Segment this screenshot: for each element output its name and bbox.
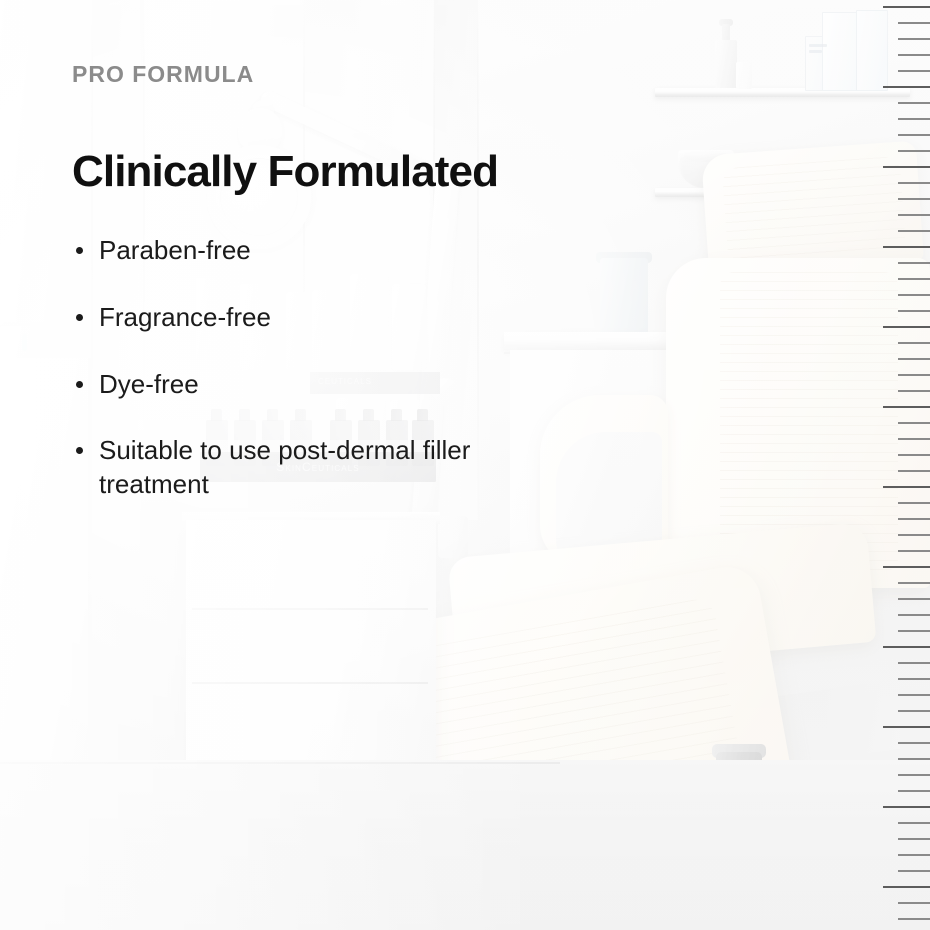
product-box-tall-2: [856, 10, 888, 91]
page-title: Clinically Formulated: [72, 149, 560, 196]
text-overlay: PRO FORMULA Clinically Formulated Parabe…: [0, 0, 560, 502]
trolley-drawer-seam-1: [192, 608, 428, 610]
floor: [0, 760, 930, 930]
lamp-clamp: [438, 516, 468, 558]
box-label-line-2: [809, 50, 822, 53]
product-tube: [736, 62, 752, 89]
product-box-tall-1: [822, 12, 858, 91]
list-item: Dye-free: [72, 368, 519, 402]
dropper-bottle: [715, 40, 737, 88]
eyebrow-label: PRO FORMULA: [72, 62, 560, 87]
chair-headrest: [701, 141, 924, 276]
box-label-line-1: [809, 44, 827, 47]
benefits-list: Paraben-free Fragrance-free Dye-free Sui…: [72, 234, 560, 502]
promo-image-canvas: ceuticals SkinCeuticals: [0, 0, 930, 930]
list-item: Paraben-free: [72, 234, 519, 268]
list-item: Suitable to use post-dermal filler treat…: [72, 434, 519, 502]
floor-skirting-line: [0, 762, 560, 764]
trolley-drawer-seam-2: [192, 682, 428, 684]
dropper-bottle-cap: [722, 24, 730, 41]
list-item: Fragrance-free: [72, 301, 519, 335]
counter-canister: [600, 258, 648, 336]
